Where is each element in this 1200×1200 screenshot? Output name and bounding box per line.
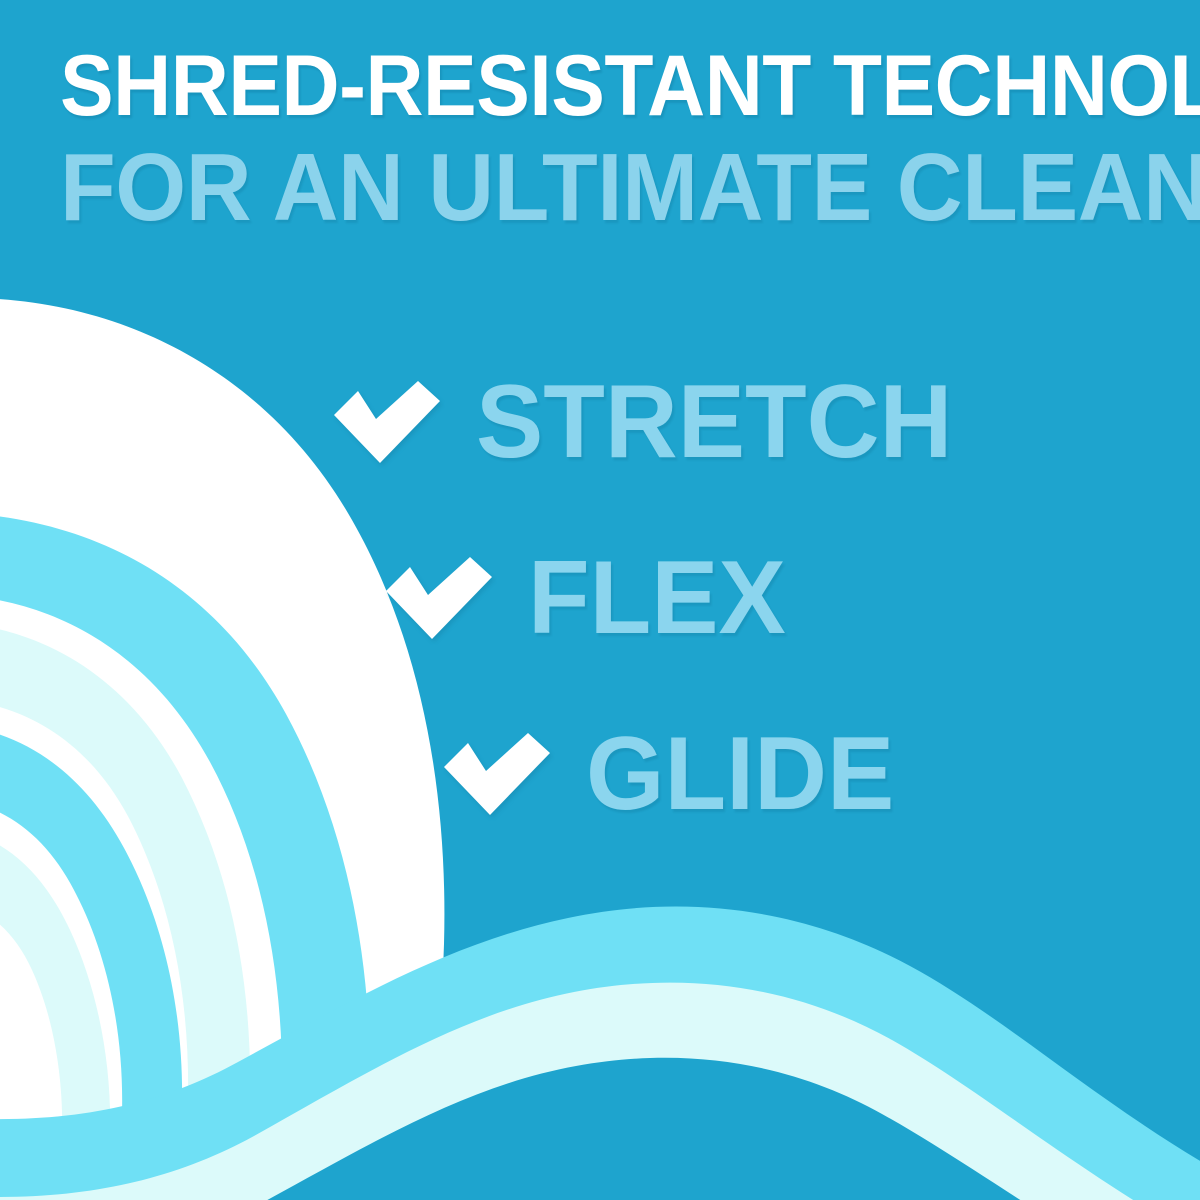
feature-label: FLEX bbox=[528, 546, 786, 650]
feature-list: STRETCH FLEX GLIDE bbox=[0, 352, 1200, 844]
list-item: STRETCH bbox=[0, 352, 1200, 492]
feature-label: STRETCH bbox=[476, 370, 952, 474]
list-item: FLEX bbox=[0, 528, 1200, 668]
checkmark-icon bbox=[332, 379, 442, 465]
list-item: GLIDE bbox=[0, 704, 1200, 844]
page-title: SHRED-RESISTANT TECHNOLOGY bbox=[60, 46, 1079, 128]
promo-banner: SHRED-RESISTANT TECHNOLOGY FOR AN ULTIMA… bbox=[0, 0, 1200, 1200]
headline-block: SHRED-RESISTANT TECHNOLOGY FOR AN ULTIMA… bbox=[60, 46, 1150, 233]
feature-label: GLIDE bbox=[586, 722, 894, 826]
page-subtitle: FOR AN ULTIMATE CLEAN bbox=[60, 142, 1096, 233]
checkmark-icon bbox=[384, 555, 494, 641]
checkmark-icon bbox=[442, 731, 552, 817]
